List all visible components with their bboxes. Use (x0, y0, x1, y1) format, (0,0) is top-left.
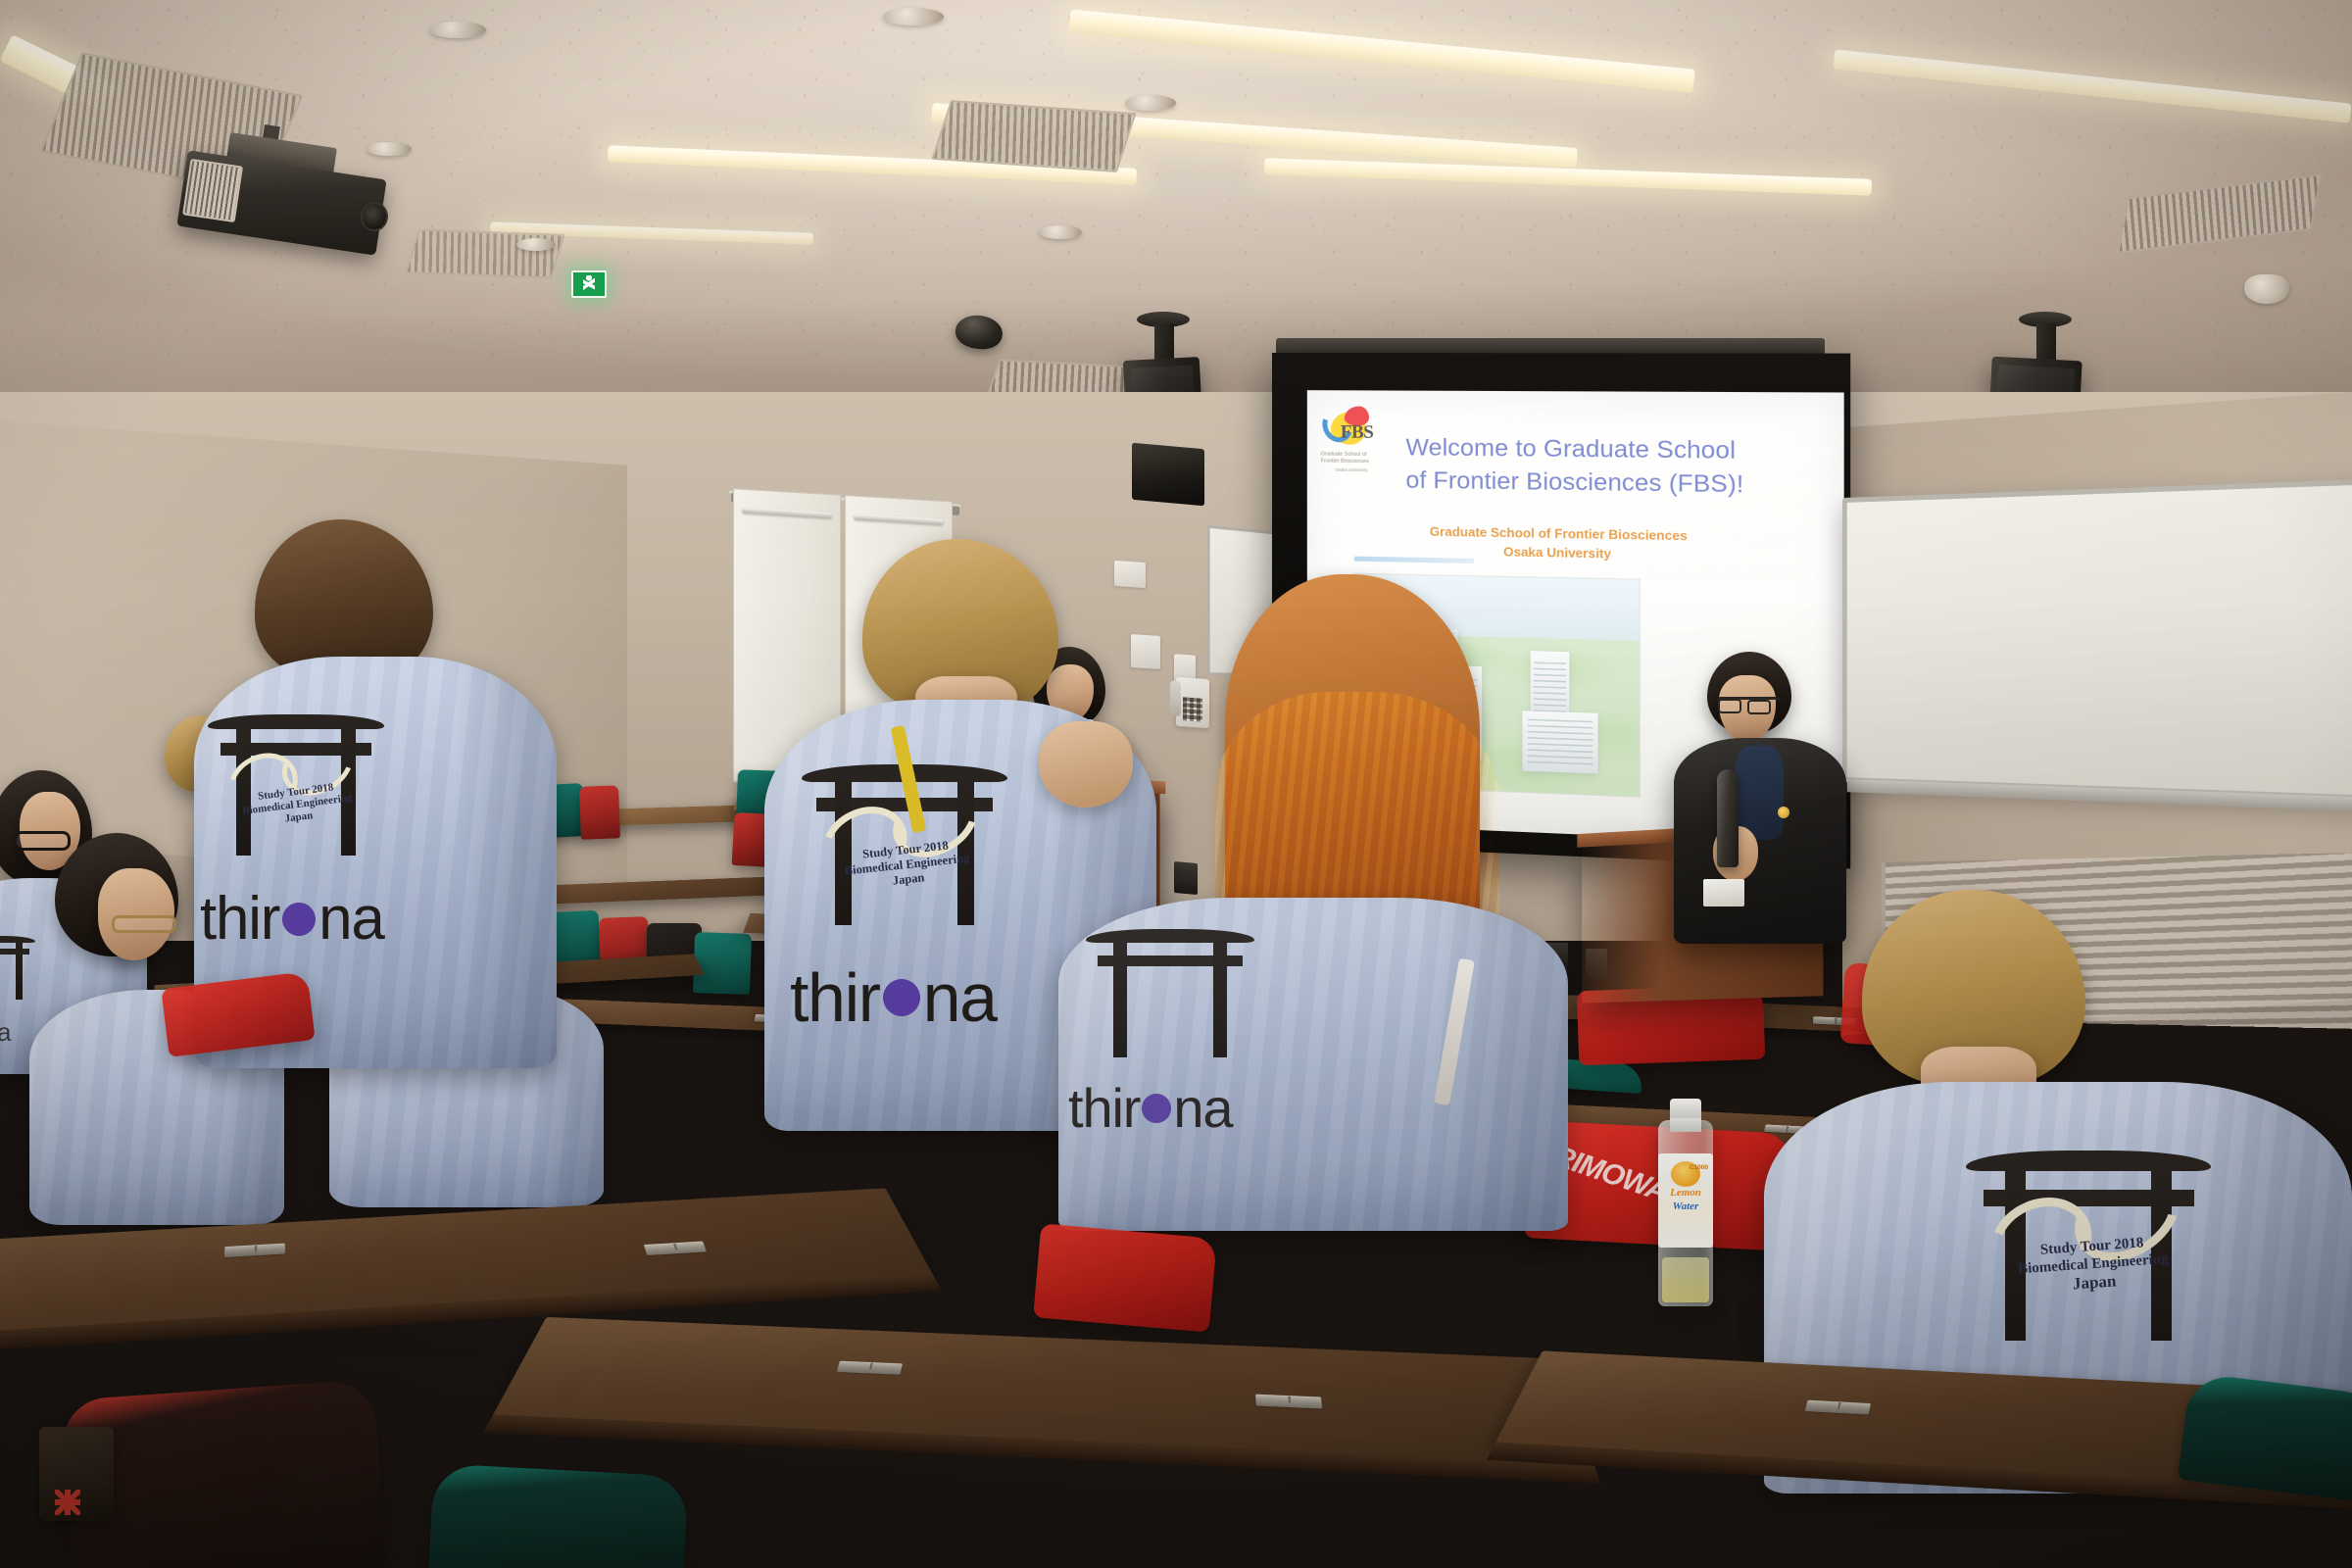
desk-power-outlet[interactable] (224, 1244, 285, 1258)
wall-whiteboard (1842, 478, 2352, 802)
student-shirt (1058, 898, 1568, 1231)
desk-power-outlet[interactable] (1805, 1400, 1872, 1415)
fire-sprinkler (1125, 95, 1176, 111)
slide-title-line2: of Frontier Biosciences (FBS)! (1405, 465, 1822, 503)
keychain-charm-icon (55, 1490, 80, 1515)
thirona-wordmark: thir na (790, 958, 997, 1037)
thirona-text-pre: thir (1068, 1076, 1140, 1140)
slide-title-line1: Welcome to Graduate School (1405, 432, 1822, 469)
thirona-text-pre: thir (790, 958, 880, 1037)
person-glasses (112, 915, 176, 933)
microphone[interactable] (1717, 769, 1739, 867)
bottle-label: C1000 Lemon Water (1658, 1153, 1713, 1248)
presenter-glasses-lens-right (1747, 700, 1771, 714)
thirona-text-post: na (0, 1017, 11, 1048)
fbs-logo: FBS Graduate School of Frontier Bioscien… (1321, 406, 1382, 472)
fbs-logo-letters: FBS (1341, 421, 1374, 443)
fbs-logo-university: Osaka University (1321, 467, 1382, 473)
speaker-bracket (2036, 323, 2056, 363)
thirona-text-post: na (1173, 1076, 1232, 1140)
fbs-logo-subtitle: Graduate School of Frontier Biosciences (1321, 451, 1382, 465)
phone-keypad[interactable] (1183, 697, 1202, 721)
light-switch-plate[interactable] (1131, 634, 1160, 669)
slide-title: Welcome to Graduate School of Frontier B… (1405, 432, 1822, 503)
thirona-text-pre: thir (200, 884, 279, 954)
wall-outlet[interactable] (1174, 861, 1198, 895)
fire-sprinkler (516, 238, 556, 251)
bottle-neck (1670, 1118, 1701, 1132)
chair[interactable] (428, 1463, 688, 1568)
shirt-fabric-sheen (1058, 898, 1568, 1231)
thirona-accent-icon (282, 903, 316, 936)
chair[interactable] (579, 785, 620, 839)
fire-sprinkler (2244, 274, 2289, 304)
water-bottle[interactable]: C1000 Lemon Water (1658, 1120, 1713, 1306)
bottle-liquid (1662, 1257, 1709, 1302)
speaker-bracket (1154, 323, 1174, 363)
thirona-text-post: na (923, 958, 997, 1037)
ceiling-air-vent (931, 100, 1136, 172)
student-hand (1039, 721, 1133, 808)
door-push-bar[interactable] (854, 514, 944, 524)
presenter-name-badge (1703, 879, 1744, 906)
red-bag[interactable] (1033, 1223, 1217, 1332)
chair[interactable] (693, 932, 752, 995)
fbs-logo-subtitle-line2: Frontier Biosciences (1321, 459, 1382, 466)
presenter-glasses-lens-left (1718, 699, 1741, 713)
thirona-accent-icon (1142, 1094, 1171, 1123)
fire-sprinkler (883, 8, 944, 25)
projector-vent-grill (182, 159, 243, 222)
wall-mounted-display (1132, 443, 1204, 506)
phone-handset[interactable] (1170, 680, 1181, 716)
front-desk (492, 1317, 1594, 1465)
light-switch-plate[interactable] (1114, 561, 1146, 588)
desk-power-outlet[interactable] (837, 1361, 903, 1375)
desk-front-panel (483, 1414, 1600, 1483)
thirona-accent-icon (883, 979, 920, 1016)
fire-sprinkler (367, 142, 412, 156)
bottle-brand: C1000 (1690, 1164, 1708, 1171)
fbs-logo-mark: FBS (1321, 406, 1378, 450)
door-push-bar[interactable] (742, 508, 832, 518)
desk-power-outlet[interactable] (644, 1242, 707, 1255)
desk-power-outlet[interactable] (1255, 1395, 1322, 1409)
photo-building (1522, 710, 1597, 773)
thirona-text-post: na (318, 884, 383, 954)
bottle-name-line2: Water (1658, 1200, 1713, 1212)
wall-telephone[interactable] (1176, 677, 1209, 728)
person-face (98, 868, 174, 960)
person-glasses (14, 831, 71, 851)
running-man-icon (583, 275, 595, 293)
fire-sprinkler (429, 22, 486, 38)
thirona-wordmark: thir na (200, 884, 384, 954)
bottle-name-line1: Lemon (1658, 1187, 1713, 1199)
thirona-wordmark: thir na (1068, 1076, 1232, 1140)
thirona-wordmark: thir na (0, 1017, 11, 1048)
slide-accent-bar (1354, 557, 1474, 563)
ceiling-air-vent (405, 229, 565, 279)
fire-sprinkler (1039, 225, 1082, 239)
presenter-lapel-pin (1778, 807, 1789, 818)
exit-sign (571, 270, 607, 298)
lecture-hall-photo: FBS Graduate School of Frontier Bioscien… (0, 0, 2352, 1568)
